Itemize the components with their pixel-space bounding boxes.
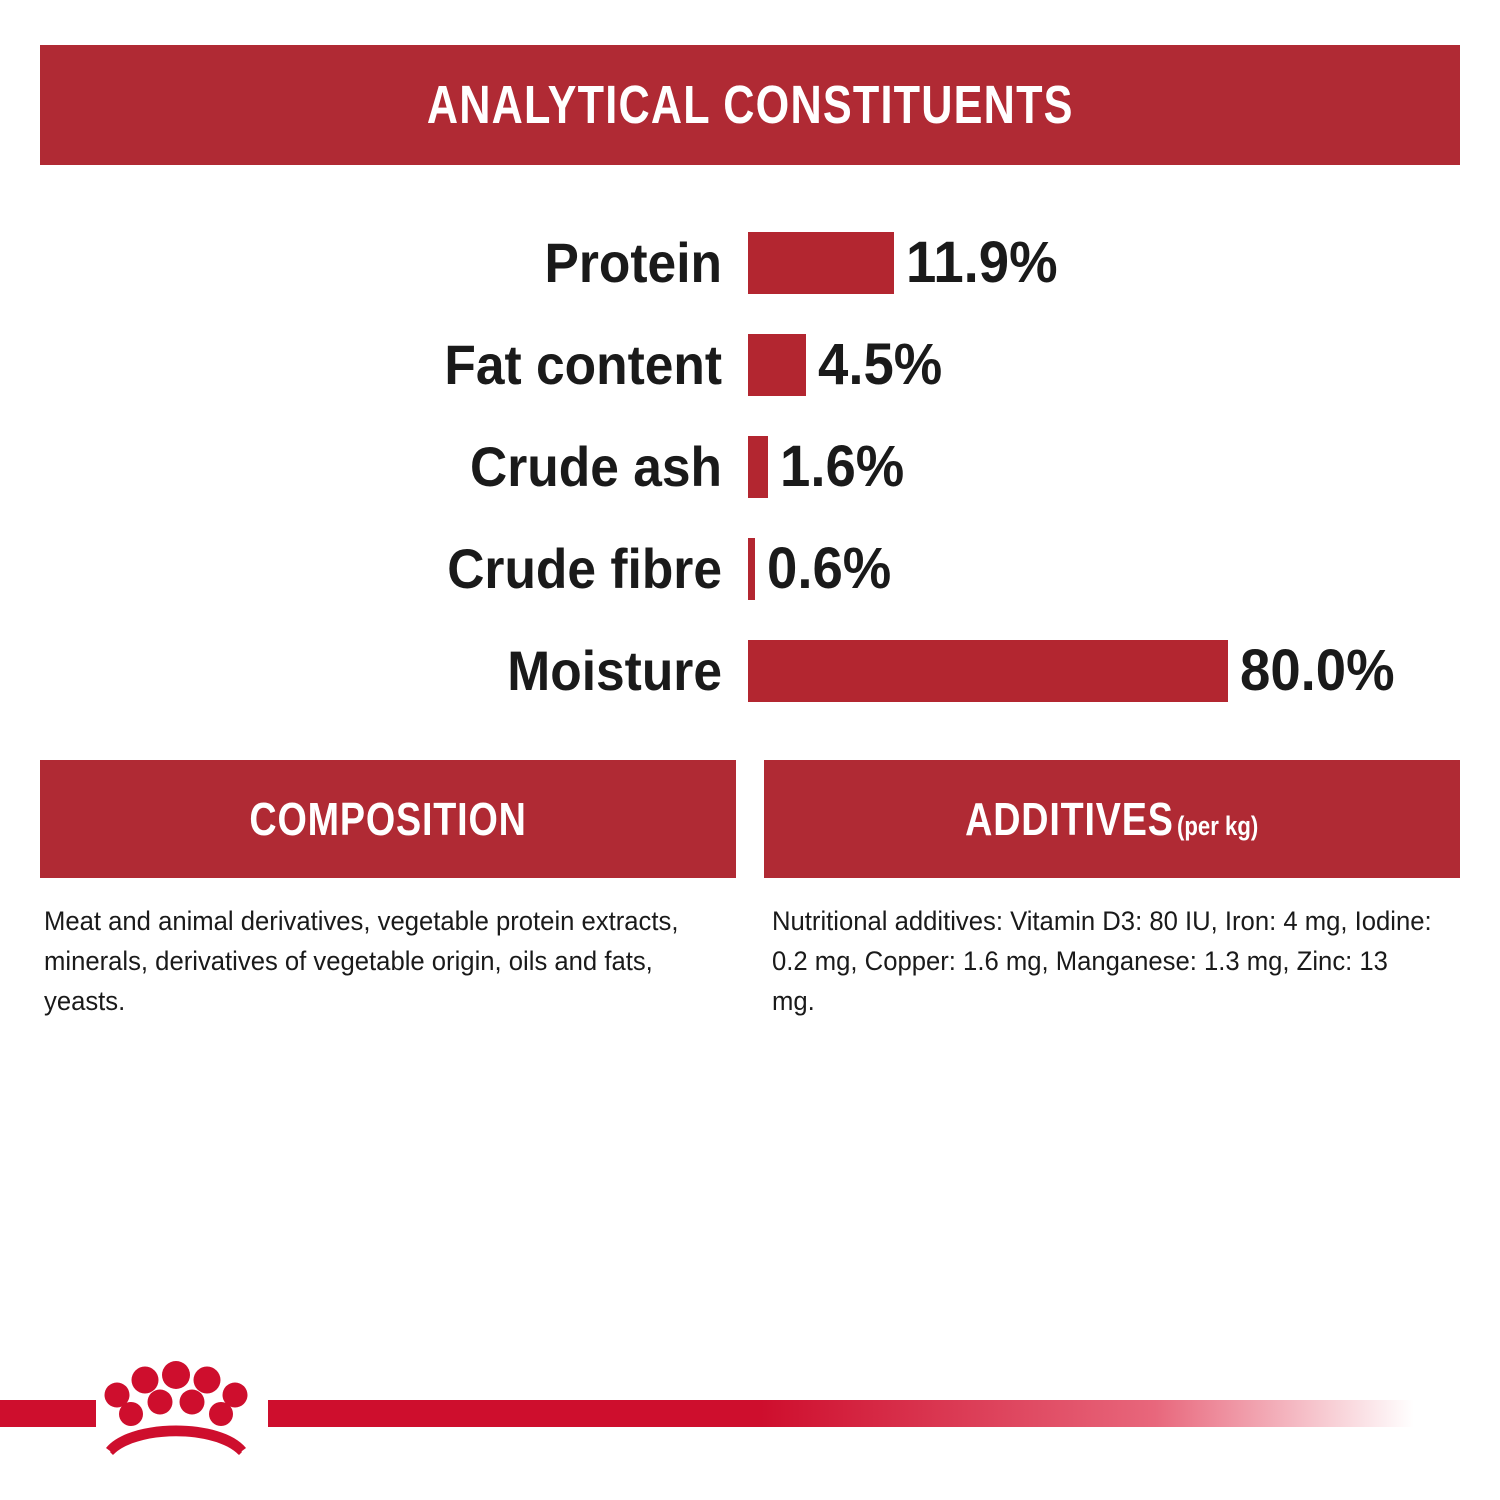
constituent-value: 4.5% — [818, 336, 942, 394]
constituent-row: Moisture 80.0% — [0, 620, 1500, 722]
constituent-value: 0.6% — [767, 540, 891, 598]
additives-heading: ADDITIVES(per kg) — [965, 796, 1258, 842]
additives-heading-suffix: (per kg) — [1177, 811, 1258, 841]
additives-text: Nutritional additives: Vitamin D3: 80 IU… — [772, 902, 1437, 1022]
composition-heading: COMPOSITION — [249, 796, 526, 842]
constituent-label: Fat content — [58, 337, 722, 393]
analytical-constituents-banner: ANALYTICAL CONSTITUENTS — [40, 45, 1460, 165]
composition-body: Meat and animal derivatives, vegetable p… — [44, 902, 744, 1022]
constituent-label: Crude fibre — [58, 541, 722, 597]
constituent-bar-fill — [748, 640, 1228, 702]
constituent-row: Protein 11.9% — [0, 212, 1500, 314]
constituent-bar-track: 80.0% — [748, 640, 1404, 702]
constituent-bar-track: 11.9% — [748, 232, 1067, 294]
composition-text: Meat and animal derivatives, vegetable p… — [44, 902, 709, 1022]
constituent-bar-fill — [748, 334, 806, 396]
constituent-value: 11.9% — [906, 234, 1058, 292]
royal-canin-crown-icon — [100, 1360, 252, 1456]
additives-banner: ADDITIVES(per kg) — [764, 760, 1460, 878]
additives-body: Nutritional additives: Vitamin D3: 80 IU… — [772, 902, 1472, 1022]
footer — [0, 1360, 1500, 1500]
constituent-row: Crude fibre 0.6% — [0, 518, 1500, 620]
footer-rule-right — [268, 1400, 1500, 1427]
constituent-bar-fill — [748, 232, 894, 294]
constituent-bar-track: 0.6% — [748, 538, 899, 600]
constituent-label: Protein — [58, 235, 722, 291]
page-title: ANALYTICAL CONSTITUENTS — [427, 78, 1074, 132]
composition-banner: COMPOSITION — [40, 760, 736, 878]
footer-rule-left — [0, 1400, 96, 1427]
constituent-bar-fill — [748, 538, 755, 600]
constituent-value: 80.0% — [1240, 642, 1395, 700]
constituent-bar-track: 4.5% — [748, 334, 950, 396]
constituent-label: Crude ash — [58, 439, 722, 495]
constituent-bar-fill — [748, 436, 768, 498]
constituent-value: 1.6% — [780, 438, 904, 496]
additives-heading-main: ADDITIVES — [965, 793, 1174, 845]
constituent-label: Moisture — [58, 643, 722, 699]
constituent-bar-track: 1.6% — [748, 436, 912, 498]
analytical-constituents-chart: Protein 11.9% Fat content 4.5% Crude ash… — [0, 212, 1500, 722]
constituent-row: Fat content 4.5% — [0, 314, 1500, 416]
constituent-row: Crude ash 1.6% — [0, 416, 1500, 518]
